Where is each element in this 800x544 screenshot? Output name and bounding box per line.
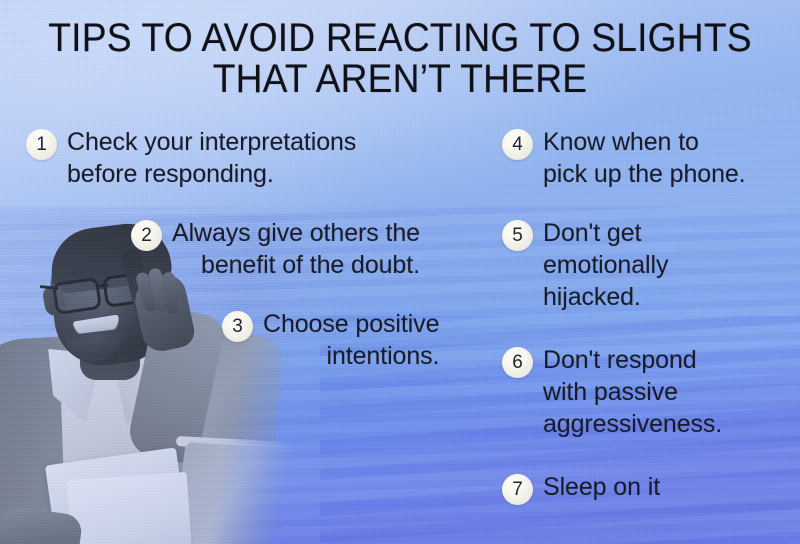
tip-number-badge-2: 2	[131, 220, 162, 251]
tip-number-badge-5: 5	[502, 220, 533, 251]
infographic-poster: TIPS TO AVOID REACTING TO SLIGHTS THAT A…	[0, 0, 800, 544]
tip-number-badge-3: 3	[222, 311, 253, 342]
tip-item-3: 3 Choose positive intentions.	[222, 308, 439, 372]
tip-text-1: Check your interpretations before respon…	[67, 126, 356, 190]
tip-number-badge-6: 6	[502, 347, 533, 378]
tip-item-6: 6 Don't respond with passive aggressiven…	[502, 344, 722, 440]
tip-text-7: Sleep on it	[543, 471, 660, 503]
tip-text-4: Know when to pick up the phone.	[543, 126, 746, 190]
tip-number-badge-7: 7	[502, 474, 533, 505]
tip-item-1: 1 Check your interpretations before resp…	[26, 126, 356, 190]
tip-number-badge-1: 1	[26, 129, 57, 160]
tip-item-7: 7 Sleep on it	[502, 471, 660, 505]
tip-item-5: 5 Don't get emotionally hijacked.	[502, 217, 668, 313]
page-title: TIPS TO AVOID REACTING TO SLIGHTS THAT A…	[28, 18, 772, 100]
tip-text-6: Don't respond with passive aggressivenes…	[543, 344, 722, 440]
tip-text-2: Always give others the benefit of the do…	[172, 217, 420, 281]
tip-text-5: Don't get emotionally hijacked.	[543, 217, 668, 313]
tip-number-badge-4: 4	[502, 129, 533, 160]
tip-text-3: Choose positive intentions.	[263, 308, 439, 372]
tip-item-2: 2 Always give others the benefit of the …	[131, 217, 420, 281]
tip-item-4: 4 Know when to pick up the phone.	[502, 126, 746, 190]
